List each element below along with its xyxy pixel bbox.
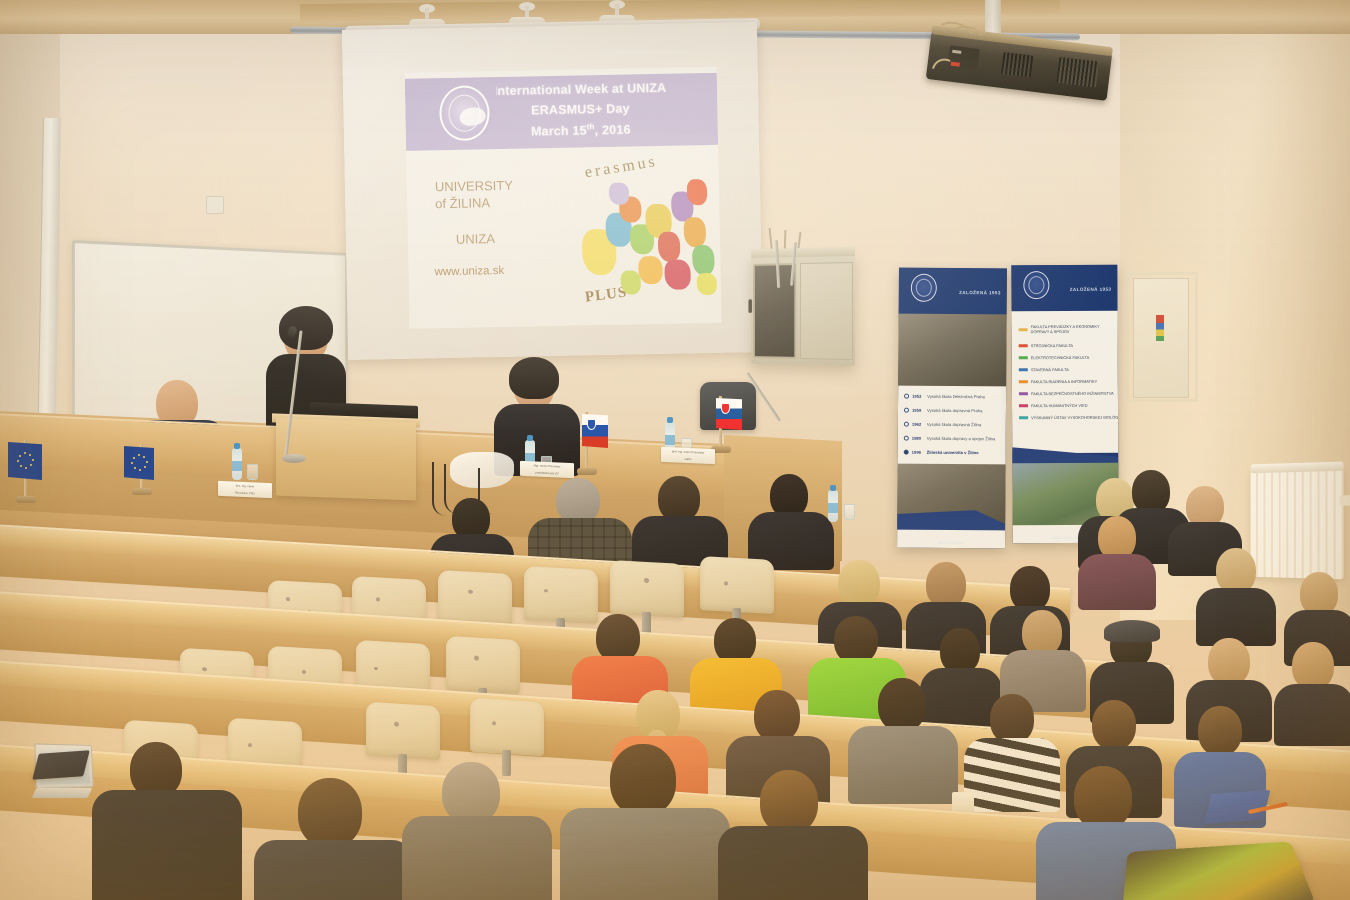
faculty-color-bar [1019,380,1028,383]
uniza-seal-icon [911,274,937,302]
faculty-row: FAKULTA HUMANITNÝCH VIED [1019,403,1088,408]
radiator-top-cap [1250,462,1343,474]
head [834,616,878,664]
cabinet-side-panel [800,262,853,360]
slovenia-crest [587,419,596,430]
faculty-row: FAKULTA RIADENIA A INFORMATIKY [1019,379,1097,384]
slide-date-year: , 2016 [595,123,631,138]
nameplate-centre: Mgr. meno Priezvisko prorektorka pre ZV [520,461,574,478]
faculty-row: STROJNÍCKA FAKULTA [1019,343,1073,348]
seal-ring [439,85,490,141]
timeline-year: 1962 [912,422,924,427]
baseball-cap [1104,620,1160,642]
lecture-hall-photo: International Week at UNIZA ERASMUS+ Day… [0,0,1350,900]
head [1198,706,1242,756]
slide-university-line-1: UNIVERSITY [435,177,513,195]
slide-website: www.uniza.sk [434,265,504,278]
head [1292,642,1334,690]
head [596,614,640,662]
cabinet-top [751,247,855,258]
bottle-label [828,503,838,513]
person-front-laptop-user [92,742,242,900]
torso [402,816,552,900]
torso-maroon [1078,554,1156,610]
head [298,778,362,848]
banner-founded-text: ZALOŽENÁ 1953 [1070,287,1112,292]
faculty-row: FAKULTA BEZPEČNOSTNÉHO INŽINIERSTVA [1019,391,1114,396]
slide-body: UNIVERSITY of ŽILINA UNIZA www.uniza.sk … [406,149,721,327]
timeline-name: Vysoká škola železničná Praha [927,394,985,399]
bottle-label [232,461,242,471]
head [1074,766,1132,830]
banner-timeline-panel: 1953 Vysoká škola železničná Praha 1959 … [898,386,1007,469]
head-grey [442,762,500,824]
head [1092,700,1136,750]
nameplate-line-2: rektor [661,453,715,462]
timeline-dot [904,436,909,441]
banner-photo-historic-hall [898,314,1007,393]
person-row1-4 [748,474,834,562]
person-row3-6 [1000,610,1086,706]
laptop-keyboard-base[interactable] [32,788,93,798]
timeline-name: Vysoká škola dopravná Žilina [927,422,981,427]
faculty-label: VÝSKUMNÝ ÚSTAV VYSOKOHORSKEJ BIOLÓGIE [1031,415,1119,420]
hair [279,306,333,350]
faculty-label: FAKULTA BEZPEČNOSTNÉHO INŽINIERSTVA [1031,391,1114,396]
flag-base-eu-table [132,488,152,495]
water-bottle[interactable] [232,448,242,480]
timeline-dot [904,408,909,413]
timeline-row: 1959 Vysoká škola dopravná Praha [904,408,983,414]
bottle-label [665,435,675,445]
faculty-row: FAKULTA PREVÁDZKY A EKONOMIKY DOPRAVY A … [1019,325,1109,335]
banner-footer: www.uniza.sk [897,530,1005,549]
person-right-4 [1078,516,1156,602]
torso [718,826,868,900]
flag-base-slovenia [577,468,597,475]
bottle-cap [527,435,533,441]
banner-faculty-panel: FAKULTA PREVÁDZKY A EKONOMIKY DOPRAVY A … [1012,311,1119,454]
uniza-seal-icon [1023,271,1049,299]
faculty-row: VÝSKUMNÝ ÚSTAV VYSOKOHORSKEJ BIOLÓGIE [1019,415,1119,421]
torso-grey-sweater [560,808,730,900]
drinking-glass[interactable] [247,464,258,480]
faculty-label: FAKULTA RIADENIA A INFORMATIKY [1031,379,1097,384]
rollup-banner-history: ZALOŽENÁ 1953 1953 Vysoká škola železnič… [897,268,1007,549]
faculty-color-bar [1019,344,1028,347]
projector-vent-side [1056,57,1099,88]
microphone-base [282,454,306,463]
slovakia-crest [721,403,730,414]
lecture-seat[interactable] [700,556,774,614]
eu-stars [16,452,34,470]
side-door[interactable] [1133,278,1189,398]
head [990,694,1034,744]
head-brunette [754,690,800,742]
timeline-year: 1980 [912,436,924,441]
person-row3-8 [1274,642,1350,738]
timeline-row: 1980 Vysoká škola dopravy a spojov Žilin… [904,436,996,442]
flag-base-eu [16,496,36,503]
faculty-label: STROJNÍCKA FAKULTA [1031,343,1073,348]
door-sticker [1156,315,1164,341]
person-front-grey-hair [402,762,552,900]
drinking-glass[interactable] [844,504,855,520]
timeline-year: 1996 [912,450,924,455]
timeline-name: Vysoká škola dopravná Praha [927,408,983,413]
nameplate-left: doc. Ing. meno Priezvisko, PhD. [218,481,272,498]
banner-header: ZALOŽENÁ 1953 [1011,265,1117,312]
wall-socket[interactable] [206,196,224,214]
lecture-seat[interactable] [446,636,520,694]
timeline-row: 1953 Vysoká škola železničná Praha [904,394,985,400]
faculty-label: FAKULTA PREVÁDZKY A EKONOMIKY DOPRAVY A … [1031,325,1109,335]
banner-url: www.uniza.sk [897,540,1005,546]
torso-dark-suit [92,790,242,900]
faculty-color-bar [1019,392,1028,395]
uniza-seal-logo [432,79,497,148]
faculty-row: ELEKTROTECHNICKÁ FAKULTA [1019,355,1089,360]
person-right-5 [1196,548,1276,636]
faculty-color-bar [1019,404,1028,407]
flag-slovakia [716,398,742,430]
lecture-seat[interactable] [470,698,544,757]
timeline-year: 1953 [912,394,924,399]
timeline-dot [904,450,909,455]
projection-screen: International Week at UNIZA ERASMUS+ Day… [342,22,763,360]
timeline-name: Žilinská univerzita v Žiline [927,450,979,455]
projector-vent-front [1001,52,1033,77]
slide-university-name: UNIVERSITY of ŽILINA [435,177,514,212]
bottle-cap [234,443,240,449]
banner-header: ZALOŽENÁ 1953 [899,268,1007,315]
faculty-color-bar [1019,356,1028,359]
flag-slovenia [582,414,608,448]
flag-european-union [8,442,42,480]
lecture-seat[interactable] [366,702,440,761]
timeline-row: 1996 Žilinská univerzita v Žiline [904,450,979,456]
lecture-seat[interactable] [610,560,684,618]
slide-acronym: UNIZA [456,231,495,247]
faculty-color-bar [1019,368,1028,371]
timeline-dot [904,394,909,399]
europe-erasmus-map [575,173,722,302]
head-blonde [838,560,880,608]
presentation-slide: International Week at UNIZA ERASMUS+ Day… [405,67,722,329]
eu-stars [130,454,148,472]
hair [509,357,559,399]
person-front-blonde [254,778,414,900]
timeline-row: 1962 Vysoká škola dopravná Žilina [904,422,981,428]
backpack[interactable] [1122,841,1316,900]
nameplate-line-2: prorektorka pre ZV [520,467,574,476]
faculty-label: STAVEBNÁ FAKULTA [1031,367,1069,372]
torso [1274,684,1350,746]
slide-date-ordinal: th [587,122,595,131]
folder-dark[interactable] [32,750,90,779]
faculty-label: ELEKTROTECHNICKÁ FAKULTA [1031,355,1089,360]
faculty-row: STAVEBNÁ FAKULTA [1019,367,1069,372]
timeline-dot [904,422,909,427]
person-front-right [718,770,868,900]
banner-founded-text: ZALOŽENÁ 1953 [959,290,1001,295]
person-row1-3 [632,476,728,568]
person-front-centre [560,744,730,900]
bottle-cap [830,485,836,491]
radiator-valve[interactable] [1340,495,1350,505]
nameplate-line-2: Priezvisko, PhD. [218,487,272,496]
seal-emblem [458,106,487,128]
faculty-color-bar [1019,328,1028,331]
head [1208,638,1250,686]
head [878,678,926,732]
faculty-color-bar [1019,416,1028,419]
torso [254,840,414,900]
wall-mounted-network-cabinet[interactable] [751,254,855,366]
slide-university-line-2: of ŽILINA [435,194,513,212]
flag-european-union-table [124,446,154,480]
bottle-cap [667,417,673,423]
timeline-name: Vysoká škola dopravy a spojov Žilina [927,436,996,441]
timeline-year: 1959 [912,408,924,413]
faculty-label: FAKULTA HUMANITNÝCH VIED [1031,403,1088,408]
cabinet-handle[interactable] [748,299,752,313]
slide-date-main: March 15 [531,123,587,138]
head [610,744,676,816]
head [760,770,818,834]
nameplate-right: prof. Ing. meno Priezvisko rektor [661,447,715,464]
water-bottle[interactable] [828,490,838,522]
